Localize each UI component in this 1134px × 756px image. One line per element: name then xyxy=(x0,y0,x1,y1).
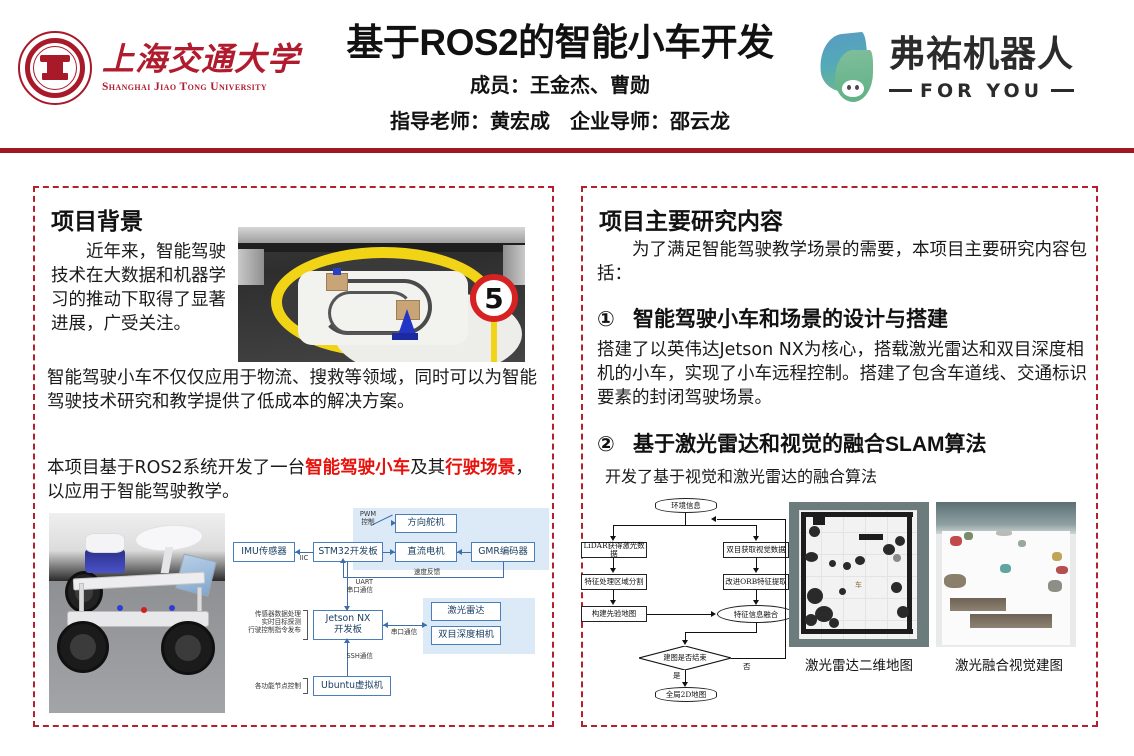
sjtu-logo: 上海交通大学 Shanghai Jiao Tong University xyxy=(18,26,303,110)
block-stm32: STM32开发板 xyxy=(313,542,383,562)
flow-no-label: 否 xyxy=(743,661,751,672)
poster-header: 上海交通大学 Shanghai Jiao Tong University 基于R… xyxy=(0,0,1134,150)
block-servo: 方向舵机 xyxy=(395,514,457,533)
edge-label-ssh: SSH通信 xyxy=(313,652,373,660)
background-paragraph-3: 本项目基于ROS2系统开发了一台智能驾驶小车及其行驶场景，以应用于智能驾驶教学。 xyxy=(47,456,545,504)
lidar-2d-map-image: 车 xyxy=(789,502,929,647)
research-intro: 为了满足智能驾驶教学场景的需要，本项目主要研究内容包括： xyxy=(597,238,1089,286)
p3-highlight-car: 智能驾驶小车 xyxy=(305,458,410,478)
robot-car-photo xyxy=(49,513,225,713)
right-panel-heading: 项目主要研究内容 xyxy=(599,202,783,236)
foryou-robotics-logo: 弗祐机器人 FOR YOU xyxy=(818,26,1118,112)
flow-start: 环境信息 xyxy=(655,498,717,513)
research-item-1-body: 搭建了以英伟达Jetson NX为核心，搭载激光雷达和双目深度相机的小车，实现了… xyxy=(597,340,1087,408)
background-paragraph-1: 近年来，智能驾驶技术在大数据和机器学习的推动下取得了显著进展，广受关注。 xyxy=(51,240,241,337)
flow-feature-fusion: 特征信息融合 xyxy=(717,605,795,623)
flow-feature-segmentation: 特征处理区域分割 xyxy=(581,574,647,590)
flow-decision-map-complete: 建图是否结束 xyxy=(639,646,731,670)
slam-fusion-flowchart: 环境信息 LiDAR获得激光数据 双目获取视觉数据 特征处理区域分割 改进ORB… xyxy=(593,498,793,703)
edge-label-uart: UART 串口通信 xyxy=(313,578,373,594)
advisors-line: 指导老师：黄宏成 企业导师：邵云龙 xyxy=(300,105,820,134)
item2-title: 基于激光雷达和视觉的融合SLAM算法 xyxy=(633,433,987,456)
block-dc-motor: 直流电机 xyxy=(395,542,457,562)
flow-orb-extraction: 改进ORB特征提取 xyxy=(723,574,789,590)
flow-end-global-map: 全局2D地图 xyxy=(655,687,717,702)
research-item-2-body-wrap: 开发了基于视觉和激光雷达的融合算法 xyxy=(605,466,1065,488)
panel-research-contents: 项目主要研究内容 为了满足智能驾驶教学场景的需要，本项目主要研究内容包括： ①智… xyxy=(581,186,1098,727)
block-imu: IMU传感器 xyxy=(233,542,295,562)
block-lidar: 激光雷达 xyxy=(431,602,501,621)
p3-part1: 本项目基于ROS2系统开发了一台 xyxy=(47,458,305,478)
p3-part2: 及其 xyxy=(410,458,445,478)
research-item-2-heading: ②基于激光雷达和视觉的融合SLAM算法 xyxy=(597,428,987,458)
sjtu-seal-icon xyxy=(18,31,92,105)
fusion-visual-map-image xyxy=(936,502,1076,647)
research-item-2-body: 开发了基于视觉和激光雷达的融合算法 xyxy=(605,467,877,486)
block-gmr-encoder: GMR编码器 xyxy=(471,542,535,562)
edge-label-serial: 串口通信 xyxy=(381,628,427,636)
background-paragraph-2: 智能驾驶小车不仅仅应用于物流、搜救等领域，同时可以为智能驾驶技术研究和教学提供了… xyxy=(47,368,537,412)
hardware-architecture-diagram: IMU传感器 STM32开发板 方向舵机 直流电机 GMR编码器 Jetson … xyxy=(231,506,549,718)
edge-label-pwm: PWM 控制 xyxy=(351,510,385,526)
flow-prior-map: 构建先验地图 xyxy=(581,606,647,622)
flow-decision-label: 建图是否结束 xyxy=(639,646,731,670)
research-item-1-body-wrap: 搭建了以英伟达Jetson NX为核心，搭载激光雷达和双目深度相机的小车，实现了… xyxy=(597,338,1093,410)
sjtu-logo-text: 上海交通大学 Shanghai Jiao Tong University xyxy=(102,43,300,93)
block-ubuntu-vm: Ubuntu虚拟机 xyxy=(313,676,391,696)
speed-limit-value: 5 xyxy=(476,280,512,316)
left-panel-heading: 项目背景 xyxy=(51,202,143,236)
leaf-mascot-icon xyxy=(818,32,880,106)
side-label-node-control: 各功能节点控制 xyxy=(233,682,301,690)
block-stereo-camera: 双目深度相机 xyxy=(431,626,501,645)
speed-limit-sign-icon: 5 xyxy=(470,274,518,322)
research-item-1-heading: ①智能驾驶小车和场景的设计与搭建 xyxy=(597,303,948,333)
flow-yes-label: 是 xyxy=(673,670,681,681)
closed-driving-scenario-photo: 5 xyxy=(238,227,525,362)
slogan-rule-left xyxy=(889,89,912,92)
side-label-jetson-roles: 传感器数据处理 实时目标探测 行驶控制指令发布 xyxy=(233,610,301,635)
panel-project-background: 项目背景 近年来，智能驾驶技术在大数据和机器学习的推动下取得了显著进展，广受关注… xyxy=(33,186,554,727)
item1-title: 智能驾驶小车和场景的设计与搭建 xyxy=(633,308,948,331)
research-intro-wrap: 为了满足智能驾驶教学场景的需要，本项目主要研究内容包括： xyxy=(597,238,1089,286)
background-column-text: 近年来，智能驾驶技术在大数据和机器学习的推动下取得了显著进展，广受关注。 xyxy=(51,240,241,337)
company-slogan: FOR YOU xyxy=(912,80,1051,102)
edge-label-iic: IIC xyxy=(291,554,317,562)
fusion-map-caption: 激光融合视觉建图 xyxy=(919,654,1099,674)
members-line: 成员：王金杰、曹勋 xyxy=(300,69,820,98)
flow-stereo-data: 双目获取视觉数据 xyxy=(723,542,789,558)
title-block: 基于ROS2的智能小车开发 成员：王金杰、曹勋 指导老师：黄宏成 企业导师：邵云… xyxy=(300,22,820,134)
item1-number: ① xyxy=(597,307,633,332)
background-paragraph-2-wrap: 智能驾驶小车不仅仅应用于物流、搜救等领域，同时可以为智能驾驶技术研究和教学提供了… xyxy=(47,366,545,414)
poster-root: 上海交通大学 Shanghai Jiao Tong University 基于R… xyxy=(0,0,1134,756)
p3-highlight-scene: 行驶场景 xyxy=(445,458,515,478)
flow-lidar-data: LiDAR获得激光数据 xyxy=(581,542,647,558)
company-name-cn: 弗祐机器人 xyxy=(889,37,1074,73)
block-jetson-nx: Jetson NX 开发板 xyxy=(313,610,383,640)
item2-number: ② xyxy=(597,432,633,457)
foryou-logo-text: 弗祐机器人 FOR YOU xyxy=(889,37,1074,102)
slogan-rule-right xyxy=(1051,89,1074,92)
page-title: 基于ROS2的智能小车开发 xyxy=(300,22,820,63)
university-name-cn: 上海交通大学 xyxy=(102,43,300,77)
edge-label-speed-feedback: 速度反馈 xyxy=(397,568,457,576)
header-divider-rule xyxy=(0,148,1134,153)
university-name-en: Shanghai Jiao Tong University xyxy=(102,81,300,93)
